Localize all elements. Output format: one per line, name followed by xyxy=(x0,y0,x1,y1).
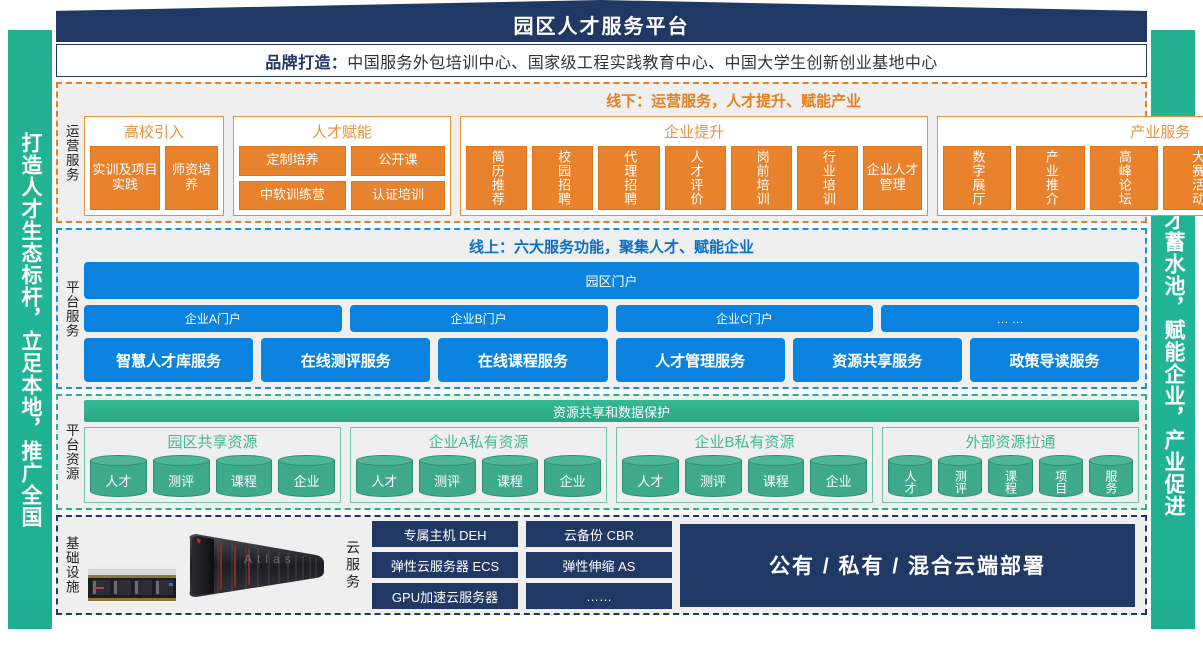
cylinder-label: 人才 xyxy=(888,466,932,497)
diagram-canvas: 打造人才生态标杆，立足本地，推广全国 构建人才蓄水池，赋能企业，产业促进 园区人… xyxy=(0,0,1203,629)
enterprise-portal[interactable]: 企业A门户 xyxy=(84,305,342,332)
online-service[interactable]: 资源共享服务 xyxy=(793,338,962,382)
cloud-item[interactable]: 云备份 CBR xyxy=(526,521,672,547)
database-cylinder[interactable]: 测评 xyxy=(938,455,982,497)
cylinder-label: 测评 xyxy=(685,466,742,497)
offline-item[interactable]: 数字展厅 xyxy=(943,146,1011,210)
brand-text: 中国服务外包培训中心、国家级工程实践教育中心、中国大学生创新创业基地中心 xyxy=(347,49,937,73)
database-cylinder[interactable]: 课程 xyxy=(748,455,805,497)
brand-row: 品牌打造：中国服务外包培训中心、国家级工程实践教育中心、中国大学生创新创业基地中… xyxy=(56,44,1147,77)
cylinder-label: 企业 xyxy=(278,466,335,497)
server-images: Atlas xyxy=(84,525,334,605)
cylinder-label: 课程 xyxy=(482,466,539,497)
database-cylinder[interactable]: 课程 xyxy=(482,455,539,497)
group-title: 企业B私有资源 xyxy=(622,430,867,455)
cloud-service-grid: 专属主机 DEH 弹性云服务器 ECS GPU加速云服务器 云备份 CBR 弹性… xyxy=(372,521,672,609)
group-cylinders: 人才 测评 课程 企业 xyxy=(90,455,335,497)
offline-item[interactable]: 岗前培训 xyxy=(731,146,792,210)
resource-group-park: 园区共享资源 人才 测评 课程 企业 xyxy=(84,427,341,503)
infrastructure-section: 基础设施 xyxy=(56,515,1147,615)
enterprise-portal[interactable]: 企业C门户 xyxy=(616,305,874,332)
online-title: 线上：六大服务功能，聚集人才、赋能企业 xyxy=(84,232,1139,262)
online-service[interactable]: 政策导读服务 xyxy=(970,338,1139,382)
enterprise-portal[interactable]: … … xyxy=(881,305,1139,332)
enterprise-portal-row: 企业A门户 企业B门户 企业C门户 … … xyxy=(84,305,1139,332)
database-cylinder[interactable]: 人才 xyxy=(356,455,413,497)
group-title: 企业提升 xyxy=(466,120,922,146)
online-section: 平台服务 线上：六大服务功能，聚集人才、赋能企业 园区门户 企业A门户 企业B门… xyxy=(56,228,1147,389)
group-items: 实训及项目实践 师资培养 xyxy=(90,146,218,210)
group-title: 园区共享资源 xyxy=(90,430,335,455)
group-items: 定制培养 公开课 中软训练营 认证培训 xyxy=(239,146,445,210)
resources-body: 资源共享和数据保护 园区共享资源 人才 测评 课程 企业 企业A私有资源 xyxy=(84,396,1145,508)
cylinder-label: 课程 xyxy=(988,466,1032,497)
database-cylinder[interactable]: 人才 xyxy=(888,455,932,497)
database-cylinder[interactable]: 测评 xyxy=(419,455,476,497)
group-title: 高校引入 xyxy=(90,120,218,146)
offline-item[interactable]: 高峰论坛 xyxy=(1090,146,1158,210)
deployment-banner: 公有 / 私有 / 混合云端部署 xyxy=(680,524,1135,607)
offline-group-empowerment: 人才赋能 定制培养 公开课 中软训练营 认证培训 xyxy=(233,116,451,216)
online-body: 线上：六大服务功能，聚集人才、赋能企业 园区门户 企业A门户 企业B门户 企业C… xyxy=(84,230,1145,387)
enterprise-portal[interactable]: 企业B门户 xyxy=(350,305,608,332)
resources-section: 平台资源 资源共享和数据保护 园区共享资源 人才 测评 课程 企业 企 xyxy=(56,394,1147,510)
infrastructure-row-label: 基础设施 xyxy=(58,517,84,613)
offline-item[interactable]: 企业人才管理 xyxy=(863,146,922,210)
online-service[interactable]: 在线测评服务 xyxy=(261,338,430,382)
group-title: 产业服务 xyxy=(943,120,1203,146)
resource-group-enterprise-a: 企业A私有资源 人才 测评 课程 企业 xyxy=(350,427,607,503)
header-banner-wrap: 园区人才服务平台 xyxy=(56,0,1147,42)
database-cylinder[interactable]: 人才 xyxy=(90,455,147,497)
database-cylinder[interactable]: 企业 xyxy=(278,455,335,497)
offline-item[interactable]: 简历推荐 xyxy=(466,146,527,210)
database-cylinder[interactable]: 测评 xyxy=(153,455,210,497)
cylinder-label: 测评 xyxy=(153,466,210,497)
group-cylinders: 人才 测评 课程 项目 服务 xyxy=(888,455,1133,497)
resource-group-external: 外部资源拉通 人才 测评 课程 项目 服务 xyxy=(882,427,1139,503)
infrastructure-content: Atlas 云服务 专属主机 DEH 弹性云服务器 ECS GPU加速云服务器 … xyxy=(84,517,1139,613)
service-row: 智慧人才库服务 在线测评服务 在线课程服务 人才管理服务 资源共享服务 政策导读… xyxy=(84,338,1139,382)
offline-item[interactable]: 中软训练营 xyxy=(239,181,346,211)
cloud-col-2: 云备份 CBR 弹性伸缩 AS …… xyxy=(526,521,672,609)
offline-item[interactable]: 定制培养 xyxy=(239,146,346,176)
atlas-server-icon: Atlas xyxy=(184,527,334,605)
cylinder-label: 课程 xyxy=(216,466,273,497)
group-items: 简历推荐 校园招聘 代理招聘 人才评价 岗前培训 行业培训 企业人才管理 xyxy=(466,146,922,210)
offline-item[interactable]: 认证培训 xyxy=(351,181,445,211)
offline-item[interactable]: 代理招聘 xyxy=(598,146,659,210)
offline-section: 运营服务 线下：运营服务，人才提升、赋能产业 高校引入 实训及项目实践 师资培养 xyxy=(56,82,1147,223)
offline-row-label: 运营服务 xyxy=(58,84,84,221)
cylinder-label: 服务 xyxy=(1089,466,1133,497)
cylinder-label: 企业 xyxy=(810,466,867,497)
page-title: 园区人才服务平台 xyxy=(514,10,690,42)
offline-item[interactable]: 校园招聘 xyxy=(532,146,593,210)
group-cylinders: 人才 测评 课程 企业 xyxy=(356,455,601,497)
online-row-label: 平台服务 xyxy=(58,230,84,387)
group-title: 外部资源拉通 xyxy=(888,430,1133,455)
cloud-item[interactable]: 专属主机 DEH xyxy=(372,521,518,547)
cylinder-label: 测评 xyxy=(938,466,982,497)
cloud-service-label: 云服务 xyxy=(342,525,364,605)
database-cylinder[interactable]: 服务 xyxy=(1089,455,1133,497)
infrastructure-body: Atlas 云服务 专属主机 DEH 弹性云服务器 ECS GPU加速云服务器 … xyxy=(84,517,1145,613)
cylinder-label: 人才 xyxy=(356,466,413,497)
cylinder-label: 企业 xyxy=(544,466,601,497)
cylinder-label: 人才 xyxy=(622,466,679,497)
group-cylinders: 人才 测评 课程 企业 xyxy=(622,455,867,497)
group-title: 人才赋能 xyxy=(239,120,445,146)
offline-item[interactable]: 行业培训 xyxy=(797,146,858,210)
database-cylinder[interactable]: 项目 xyxy=(1039,455,1083,497)
cylinder-label: 人才 xyxy=(90,466,147,497)
left-side-banner: 打造人才生态标杆，立足本地，推广全国 xyxy=(8,30,52,629)
offline-item[interactable]: 实训及项目实践 xyxy=(90,146,160,210)
main-column: 园区人才服务平台 品牌打造：中国服务外包培训中心、国家级工程实践教育中心、中国大… xyxy=(56,0,1147,627)
header-banner: 园区人才服务平台 xyxy=(56,0,1147,42)
cylinder-label: 项目 xyxy=(1039,466,1083,497)
resource-group-enterprise-b: 企业B私有资源 人才 测评 课程 企业 xyxy=(616,427,873,503)
database-cylinder[interactable]: 课程 xyxy=(988,455,1032,497)
brand-label: 品牌打造： xyxy=(265,49,347,73)
offline-item[interactable]: 人才评价 xyxy=(665,146,726,210)
online-service[interactable]: 在线课程服务 xyxy=(438,338,607,382)
resources-row-label: 平台资源 xyxy=(58,396,84,508)
resource-protection-banner: 资源共享和数据保护 xyxy=(84,400,1139,422)
offline-title: 线下：运营服务，人才提升、赋能产业 xyxy=(84,86,1203,116)
database-cylinder[interactable]: 测评 xyxy=(685,455,742,497)
offline-item[interactable]: 师资培养 xyxy=(165,146,218,210)
cloud-item[interactable]: GPU加速云服务器 xyxy=(372,583,518,609)
group-items: 数字展厅 产业推介 高峰论坛 大赛活动 国际交流 产业研究 xyxy=(943,146,1203,210)
offline-body: 线下：运营服务，人才提升、赋能产业 高校引入 实训及项目实践 师资培养 人才赋能 xyxy=(84,84,1203,221)
offline-item[interactable]: 大赛活动 xyxy=(1163,146,1203,210)
cylinder-label: 测评 xyxy=(419,466,476,497)
resource-groups: 园区共享资源 人才 测评 课程 企业 企业A私有资源 人才 测评 xyxy=(84,427,1139,503)
cloud-item[interactable]: 弹性云服务器 ECS xyxy=(372,552,518,578)
offline-item[interactable]: 产业推介 xyxy=(1016,146,1084,210)
database-cylinder[interactable]: 课程 xyxy=(216,455,273,497)
svg-text:Atlas: Atlas xyxy=(244,552,296,566)
offline-group-university: 高校引入 实训及项目实践 师资培养 xyxy=(84,116,224,216)
database-cylinder[interactable]: 企业 xyxy=(810,455,867,497)
offline-groups: 高校引入 实训及项目实践 师资培养 人才赋能 定制培养 公开课 xyxy=(84,116,1203,216)
database-cylinder[interactable]: 人才 xyxy=(622,455,679,497)
offline-item[interactable]: 公开课 xyxy=(351,146,445,176)
group-title: 企业A私有资源 xyxy=(356,430,601,455)
park-portal-bar[interactable]: 园区门户 xyxy=(84,262,1139,299)
cloud-item[interactable]: …… xyxy=(526,583,672,609)
cylinder-label: 课程 xyxy=(748,466,805,497)
database-cylinder[interactable]: 企业 xyxy=(544,455,601,497)
rack-server-icon xyxy=(84,559,180,605)
offline-group-industry: 产业服务 数字展厅 产业推介 高峰论坛 大赛活动 国际交流 产业研究 xyxy=(937,116,1203,216)
online-service[interactable]: 人才管理服务 xyxy=(616,338,785,382)
cloud-item[interactable]: 弹性伸缩 AS xyxy=(526,552,672,578)
cloud-col-1: 专属主机 DEH 弹性云服务器 ECS GPU加速云服务器 xyxy=(372,521,518,609)
online-service[interactable]: 智慧人才库服务 xyxy=(84,338,253,382)
offline-group-enterprise: 企业提升 简历推荐 校园招聘 代理招聘 人才评价 岗前培训 行业培训 企业人才管… xyxy=(460,116,928,216)
